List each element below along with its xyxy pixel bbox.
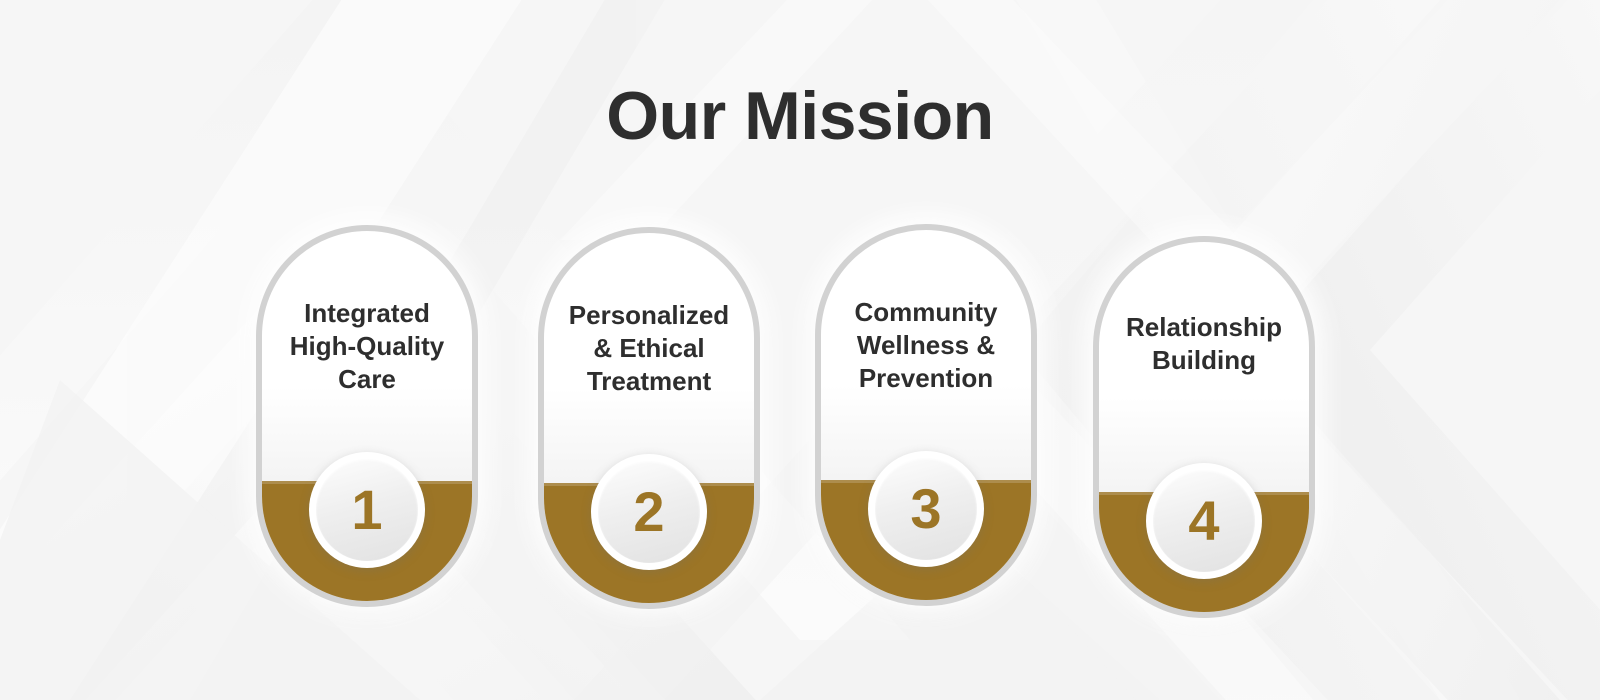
card-label-line: Building — [1103, 344, 1305, 377]
card-label-line: Personalized — [548, 299, 750, 332]
card-label: Relationship Building — [1093, 311, 1315, 377]
card-label-line: & Ethical — [548, 332, 750, 365]
card-label-line: Wellness & — [825, 329, 1027, 362]
card-label-line: Treatment — [548, 365, 750, 398]
card-number: 3 — [910, 481, 941, 537]
card-label: Community Wellness & Prevention — [815, 296, 1037, 394]
card-label-line: Care — [266, 363, 468, 396]
card-label: Integrated High-Quality Care — [256, 297, 478, 395]
card-number: 4 — [1188, 493, 1219, 549]
card-number-badge: 3 — [868, 451, 984, 567]
mission-card-1[interactable]: Integrated High-Quality Care 1 — [256, 225, 478, 607]
card-label-line: High-Quality — [266, 330, 468, 363]
mission-card-4[interactable]: Relationship Building 4 — [1093, 236, 1315, 618]
page-title: Our Mission — [0, 82, 1600, 150]
card-label-line: Prevention — [825, 362, 1027, 395]
card-number-badge: 1 — [309, 452, 425, 568]
card-label-line: Relationship — [1103, 311, 1305, 344]
card-number: 1 — [351, 482, 382, 538]
card-label: Personalized & Ethical Treatment — [538, 299, 760, 397]
card-number-badge: 2 — [591, 454, 707, 570]
card-label-line: Integrated — [266, 297, 468, 330]
card-number-badge: 4 — [1146, 463, 1262, 579]
card-label-line: Community — [825, 296, 1027, 329]
infographic-slide: Our Mission Integrated High-Quality Care… — [0, 0, 1600, 700]
card-number: 2 — [633, 484, 664, 540]
mission-card-3[interactable]: Community Wellness & Prevention 3 — [815, 224, 1037, 606]
mission-card-2[interactable]: Personalized & Ethical Treatment 2 — [538, 227, 760, 609]
